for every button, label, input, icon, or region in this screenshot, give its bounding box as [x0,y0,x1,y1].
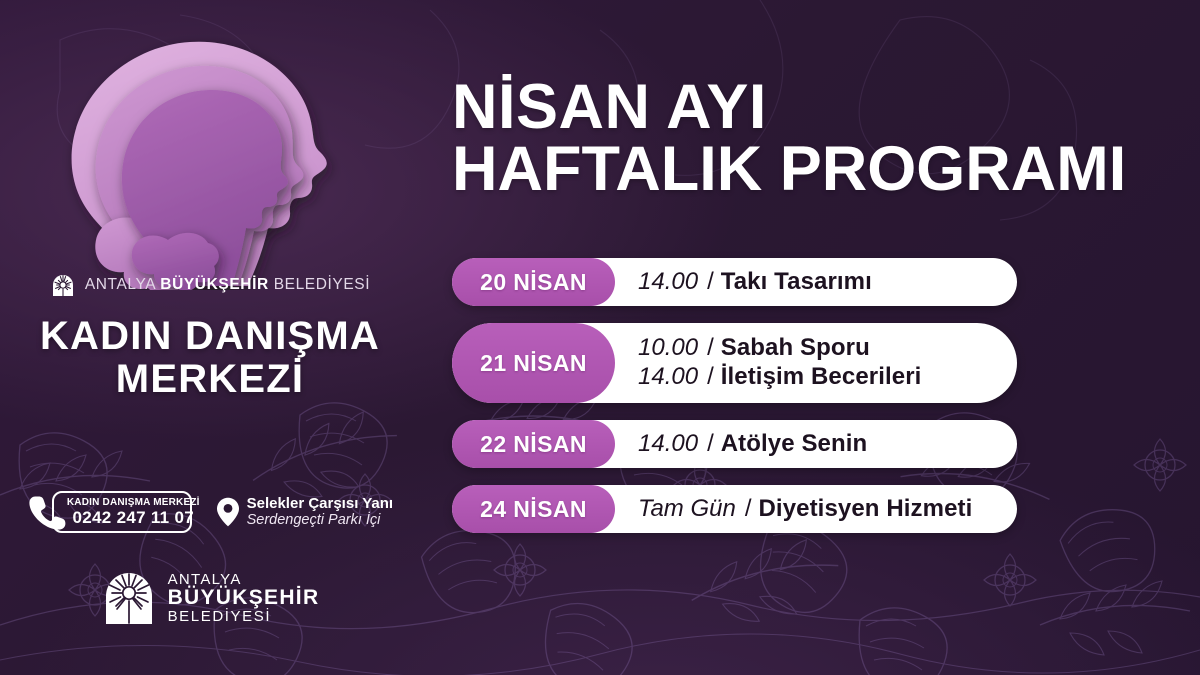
schedule-date-pill: 20 NİSAN [452,258,615,306]
map-pin-icon [216,497,240,527]
schedule-date-pill: 24 NİSAN [452,485,615,533]
schedule-entry-time: 14.00 [638,269,698,296]
schedule-entry-separator: / [707,364,714,391]
phone-text: KADIN DANIŞMA MERKEZİ 0242 247 11 07 [61,497,200,527]
address-block: Selekler Çarşısı Yanı Serdengeçti Parkı … [216,495,394,530]
address-text: Selekler Çarşısı Yanı Serdengeçti Parkı … [247,495,394,530]
schedule-entries: 10.00/Sabah Sporu14.00/İletişim Becerile… [638,335,921,391]
schedule-row-wrapper: 20 NİSAN14.00/Takı Tasarımı [452,258,1152,323]
schedule-list: 20 NİSAN14.00/Takı Tasarımı21 NİSAN10.00… [452,258,1152,550]
schedule-row-wrapper: 22 NİSAN14.00/Atölye Senin [452,420,1152,485]
schedule-entry-time: 14.00 [638,431,698,458]
title-line2: HAFTALIK PROGRAMI [452,138,1152,200]
brand-prefix: ANTALYA [85,276,156,293]
schedule-row: 22 NİSAN14.00/Atölye Senin [452,420,1017,468]
schedule-date-label: 22 NİSAN [480,431,587,458]
phone-number: 0242 247 11 07 [67,508,200,527]
schedule-entries: Tam Gün/Diyetisyen Hizmeti [638,496,972,523]
schedule-date-label: 21 NİSAN [480,350,587,377]
schedule-row: 21 NİSAN10.00/Sabah Sporu14.00/İletişim … [452,323,1017,403]
schedule-row-wrapper: 24 NİSANTam Gün/Diyetisyen Hizmeti [452,485,1152,550]
schedule-entries: 14.00/Atölye Senin [638,431,867,458]
footer-logo-line1: ANTALYA [168,572,320,587]
schedule-date-pill: 22 NİSAN [452,420,615,468]
poster-canvas: ANTALYA BÜYÜKŞEHİR BELEDİYESİ KADIN DANI… [0,0,1200,675]
title-line1: NİSAN AYI [452,76,1152,138]
poster-title: NİSAN AYI HAFTALIK PROGRAMI [452,76,1152,201]
schedule-date-label: 24 NİSAN [480,496,587,523]
address-line2: Serdengeçti Parkı İçi [247,512,394,529]
brand-text: ANTALYA BÜYÜKŞEHİR BELEDİYESİ [85,276,370,294]
schedule-entry: 14.00/Atölye Senin [638,431,867,458]
center-name: KADIN DANIŞMA MERKEZİ [0,315,420,401]
schedule-entry-separator: / [745,496,752,523]
schedule-entry: 14.00/İletişim Becerileri [638,364,921,391]
schedule-entry-separator: / [707,335,714,362]
phone-badge[interactable]: KADIN DANIŞMA MERKEZİ 0242 247 11 07 [27,487,200,537]
brand-suffix: BELEDİYESİ [274,276,370,293]
schedule-entry-activity: Atölye Senin [721,431,868,458]
schedule-entry-time: 10.00 [638,335,698,362]
left-info-column: ANTALYA BÜYÜKŞEHİR BELEDİYESİ KADIN DANI… [0,272,420,401]
schedule-row-wrapper: 21 NİSAN10.00/Sabah Sporu14.00/İletişim … [452,323,1152,420]
schedule-date-label: 20 NİSAN [480,269,587,296]
footer-logo: ANTALYA BÜYÜKŞEHİR BELEDİYESİ [0,568,420,628]
schedule-entry-separator: / [707,431,714,458]
brand-line: ANTALYA BÜYÜKŞEHİR BELEDİYESİ [0,272,420,298]
antalya-sunburst-icon [101,568,157,628]
contact-row: KADIN DANIŞMA MERKEZİ 0242 247 11 07 Sel… [0,487,420,537]
schedule-entry-time: Tam Gün [638,496,736,523]
footer-logo-line2: BÜYÜKŞEHİR [168,587,320,608]
schedule-entry-activity: Takı Tasarımı [721,269,872,296]
schedule-entry-separator: / [707,269,714,296]
footer-logo-words: ANTALYA BÜYÜKŞEHİR BELEDİYESİ [168,572,320,624]
schedule-entry-activity: Diyetisyen Hizmeti [759,496,973,523]
schedule-entries: 14.00/Takı Tasarımı [638,269,872,296]
schedule-row: 24 NİSANTam Gün/Diyetisyen Hizmeti [452,485,1017,533]
schedule-date-pill: 21 NİSAN [452,323,615,403]
center-name-line2: MERKEZİ [0,358,420,401]
schedule-entry: Tam Gün/Diyetisyen Hizmeti [638,496,972,523]
schedule-entry: 14.00/Takı Tasarımı [638,269,872,296]
layered-women-silhouette-illustration [30,28,390,290]
phone-label: KADIN DANIŞMA MERKEZİ [67,497,200,508]
title-block: NİSAN AYI HAFTALIK PROGRAMI [452,76,1152,201]
schedule-entry: 10.00/Sabah Sporu [638,335,921,362]
brand-bold: BÜYÜKŞEHİR [160,276,268,293]
footer-logo-line3: BELEDİYESİ [168,609,320,624]
schedule-entry-activity: Sabah Sporu [721,335,870,362]
schedule-row: 20 NİSAN14.00/Takı Tasarımı [452,258,1017,306]
center-name-line1: KADIN DANIŞMA [0,315,420,358]
schedule-entry-activity: İletişim Becerileri [721,364,922,391]
antalya-sunburst-icon [50,272,76,298]
schedule-entry-time: 14.00 [638,364,698,391]
address-line1: Selekler Çarşısı Yanı [247,495,394,513]
